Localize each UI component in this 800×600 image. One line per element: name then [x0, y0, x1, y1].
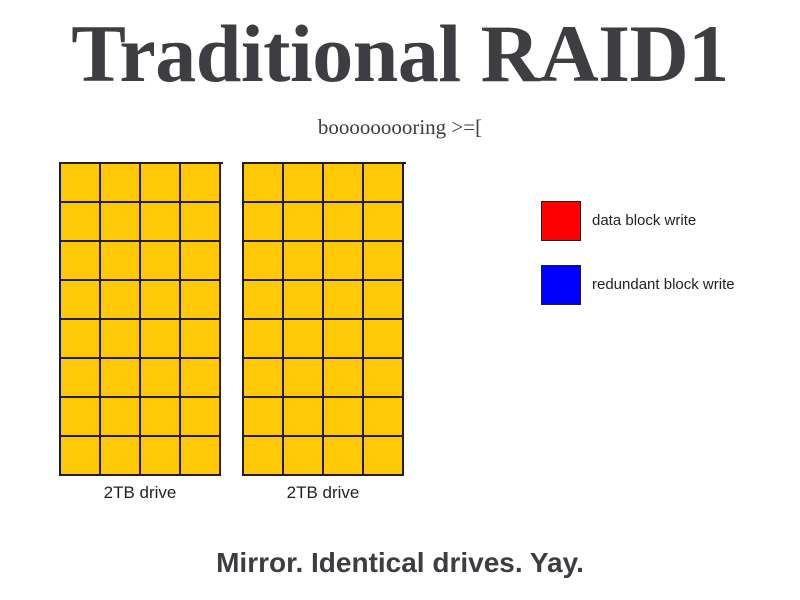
drive-block — [244, 203, 284, 242]
drive-block — [364, 398, 404, 437]
drive-block — [284, 203, 324, 242]
drive-block — [284, 359, 324, 398]
legend-label-redundant-block-write: redundant block write — [592, 276, 735, 294]
drive-block — [61, 281, 101, 320]
drive-block — [284, 164, 324, 203]
drive-block — [61, 203, 101, 242]
drive-block — [244, 164, 284, 203]
drive-block — [244, 281, 284, 320]
drive-block — [101, 320, 141, 359]
drive-block — [364, 320, 404, 359]
drive-block — [284, 242, 324, 281]
drive-block — [284, 320, 324, 359]
drive-block — [244, 359, 284, 398]
drive-block — [101, 281, 141, 320]
drive-block — [101, 359, 141, 398]
drive-block — [324, 203, 364, 242]
drive-block-grid-2 — [242, 162, 406, 476]
drive-block — [324, 398, 364, 437]
drive-block — [284, 281, 324, 320]
drive-block — [61, 359, 101, 398]
drive-block — [181, 281, 221, 320]
legend-item-data-block-write: data block write — [541, 201, 735, 241]
drive-block — [61, 320, 101, 359]
drive-block — [324, 320, 364, 359]
legend-swatch-red — [541, 201, 581, 241]
drive-block — [181, 437, 221, 476]
drive-block — [141, 242, 181, 281]
drive-block — [324, 359, 364, 398]
legend-item-redundant-block-write: redundant block write — [541, 265, 735, 305]
drive-block — [181, 203, 221, 242]
drive-block — [324, 437, 364, 476]
drive-block — [364, 242, 404, 281]
slide-canvas: Traditional RAID1 booooooooring >=[ — [0, 0, 800, 600]
drive-block — [141, 203, 181, 242]
drive-block — [101, 164, 141, 203]
drive-block — [141, 437, 181, 476]
drive-block — [61, 164, 101, 203]
page-title: Traditional RAID1 — [0, 8, 800, 100]
slide-subtitle: booooooooring >=[ — [0, 115, 800, 139]
drive-block-grid-1 — [59, 162, 223, 476]
drive-block — [244, 320, 284, 359]
drive-block — [181, 242, 221, 281]
legend-label-data-block-write: data block write — [592, 212, 696, 230]
slide-caption: Mirror. Identical drives. Yay. — [0, 546, 800, 580]
drive-block — [364, 164, 404, 203]
drive-block — [101, 437, 141, 476]
drive-block — [181, 359, 221, 398]
drive-block — [101, 203, 141, 242]
drive-label-2: 2TB drive — [242, 482, 404, 504]
drive-block — [141, 398, 181, 437]
drive-block — [244, 437, 284, 476]
drive-block — [141, 320, 181, 359]
drive-block — [284, 398, 324, 437]
drive-block — [324, 164, 364, 203]
drive-block — [141, 359, 181, 398]
drive-block — [364, 437, 404, 476]
drive-block — [61, 398, 101, 437]
drive-block — [181, 320, 221, 359]
drive-label-1: 2TB drive — [59, 482, 221, 504]
drive-block — [364, 359, 404, 398]
drive-diagram-1: 2TB drive — [59, 162, 223, 504]
drive-block — [284, 437, 324, 476]
drive-block — [181, 398, 221, 437]
drive-block — [141, 164, 181, 203]
drive-block — [141, 281, 181, 320]
drive-block — [364, 203, 404, 242]
drive-block — [244, 242, 284, 281]
drive-block — [101, 242, 141, 281]
drive-block — [324, 281, 364, 320]
drive-block — [61, 437, 101, 476]
drive-block — [324, 242, 364, 281]
drive-block — [364, 281, 404, 320]
legend-swatch-blue — [541, 265, 581, 305]
drive-diagram-2: 2TB drive — [242, 162, 406, 504]
legend: data block write redundant block write — [541, 201, 735, 305]
drive-block — [61, 242, 101, 281]
drive-block — [101, 398, 141, 437]
drive-block — [244, 398, 284, 437]
drive-block — [181, 164, 221, 203]
